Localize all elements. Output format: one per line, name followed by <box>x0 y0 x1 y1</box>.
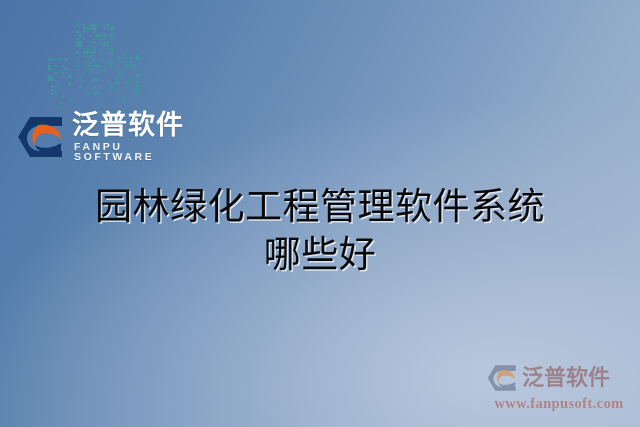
fanpu-logo-mark-watermark-icon <box>486 364 520 392</box>
page-title-line-2: 哪些好 <box>0 232 640 280</box>
watermark-url: www.fanpusoft.com <box>486 396 632 413</box>
page-title: 园林绿化工程管理软件系统 哪些好 <box>0 184 640 280</box>
brand-name-cn: 泛普软件 <box>72 112 196 139</box>
watermark-name-cn: 泛普软件 <box>522 367 610 389</box>
brand-logo: 泛普软件 FANPU SOFTWARE <box>16 110 196 164</box>
brand-name-en: FANPU SOFTWARE <box>74 142 196 163</box>
watermark: 泛普软件 www.fanpusoft.com <box>486 361 632 419</box>
watermark-logo-row: 泛普软件 <box>486 361 632 395</box>
page-title-line-1: 园林绿化工程管理软件系统 <box>0 184 640 232</box>
pixel-mosaic-pattern <box>46 18 142 110</box>
brand-wordmark: 泛普软件 FANPU SOFTWARE <box>72 112 196 163</box>
poster-canvas: 泛普软件 FANPU SOFTWARE 园林绿化工程管理软件系统 哪些好 泛普软… <box>0 0 640 427</box>
fanpu-logo-mark-icon <box>16 115 68 159</box>
